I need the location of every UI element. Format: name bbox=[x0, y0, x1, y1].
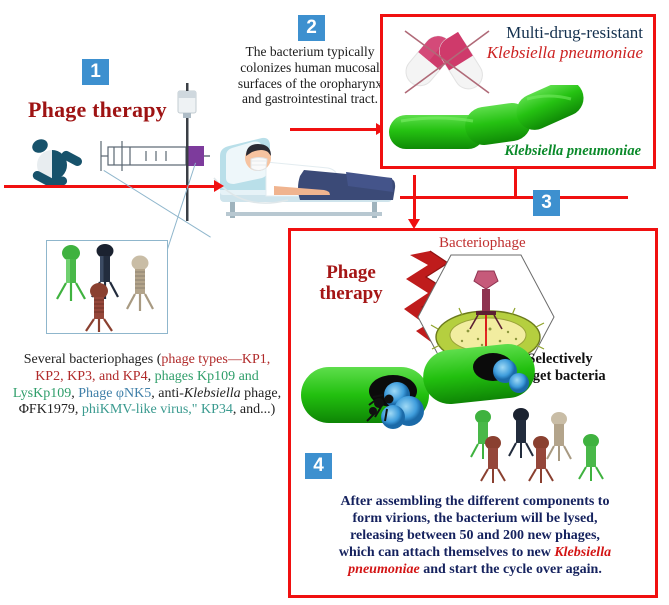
panel2-to-mdr-line bbox=[290, 128, 378, 131]
panel1-title: Phage therapy bbox=[28, 97, 167, 123]
patient-in-bed-icon bbox=[196, 116, 404, 220]
caption-part-13: , and...) bbox=[233, 402, 275, 417]
panel4-line1: After assembling the different component… bbox=[299, 493, 651, 510]
caption-part-9: phage bbox=[241, 386, 278, 401]
phage-row-icons bbox=[467, 407, 643, 483]
badge-4: 4 bbox=[305, 453, 332, 479]
panel4-species-genus: Klebsiella bbox=[554, 545, 611, 560]
mdr-heading: Multi-drug-resistant Klebsiella pneumoni… bbox=[487, 23, 643, 64]
caption-part-7: anti- bbox=[158, 386, 184, 401]
caption-part-0: Several bacteriophages ( bbox=[24, 352, 162, 367]
caption-part-11: , bbox=[75, 402, 82, 417]
phage-specimen-icons bbox=[47, 241, 167, 333]
panel3-phage-therapy-label: Phage therapy bbox=[303, 263, 399, 305]
injection-arrow-line bbox=[4, 185, 216, 188]
caption-part-8: Klebsiella bbox=[184, 386, 241, 401]
panel4-species-epithet: pneumoniae bbox=[348, 562, 420, 577]
caption-part-5: Phage φNK5 bbox=[78, 386, 151, 401]
panel4-line2: form virions, the bacterium will be lyse… bbox=[299, 510, 651, 527]
panel1-caption: Several bacteriophages (phage types—KP1,… bbox=[12, 352, 282, 419]
panel4-text: After assembling the different component… bbox=[299, 493, 651, 578]
badge-1: 1 bbox=[82, 59, 109, 85]
phage-specimen-box bbox=[46, 240, 168, 334]
panel4-line5-text: and start the cycle over again. bbox=[420, 562, 602, 577]
panel4-line3: releasing between 50 and 200 new phages, bbox=[299, 527, 651, 544]
bacteriophage-label: Bacteriophage bbox=[439, 235, 526, 252]
mdr-species-label: Klebsiella pneumoniae bbox=[504, 143, 641, 160]
panel4-line5: pneumoniae and start the cycle over agai… bbox=[299, 561, 651, 578]
mdr-heading-line2: Klebsiella pneumoniae bbox=[487, 43, 643, 63]
panel4-line4: which can attach themselves to new Klebs… bbox=[299, 544, 651, 561]
panel3-box: Phage therapy Bacteriophage bbox=[288, 228, 658, 598]
mdr-to-panel3-vline bbox=[514, 169, 517, 199]
mdr-heading-line1: Multi-drug-resistant bbox=[487, 23, 643, 43]
caption-part-12: phiKMV-like virus," KP34 bbox=[82, 402, 233, 417]
infographic-canvas: 1 Phage therapy bbox=[0, 0, 669, 605]
panel3-top-rail bbox=[400, 196, 628, 199]
badge-2: 2 bbox=[298, 15, 325, 41]
panel4-line4-text: which can attach themselves to new bbox=[339, 545, 554, 560]
panel2-text: The bacterium typically colonizes human … bbox=[236, 44, 384, 107]
caption-part-2: , bbox=[148, 369, 155, 384]
panel3-down-vline bbox=[413, 175, 416, 223]
pills-icon bbox=[30, 133, 100, 203]
injection-arrow-head bbox=[214, 180, 224, 192]
mdr-box: Multi-drug-resistant Klebsiella pneumoni… bbox=[380, 14, 656, 169]
badge-3: 3 bbox=[533, 190, 560, 216]
